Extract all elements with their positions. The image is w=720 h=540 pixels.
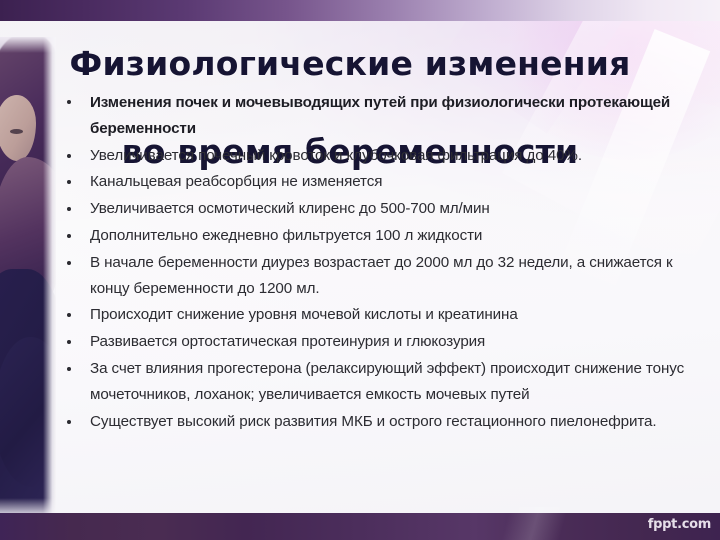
list-item: Существует высокий риск развития МКБ и о… [62, 409, 710, 435]
list-item: За счет влияния прогестерона (релаксирую… [62, 356, 710, 408]
list-item: Происходит снижение уровня мочевой кисло… [62, 302, 710, 328]
bottom-bar-sheen [499, 507, 568, 540]
list-item: Увеличивается осмотический клиренс до 50… [62, 196, 710, 222]
list-item: Канальцевая реабсорбция не изменяется [62, 169, 710, 195]
fppt-watermark: fppt.com [648, 517, 711, 532]
slide-body: Изменения почек и мочевыводящих путей пр… [62, 90, 710, 435]
slide-title-line-1: Физиологические изменения [0, 42, 700, 86]
list-item: Развивается ортостатическая протеинурия … [62, 329, 710, 355]
bottom-purple-bar: fppt.com [0, 513, 720, 540]
bullet-list: Изменения почек и мочевыводящих путей пр… [62, 90, 710, 434]
list-item: Изменения почек и мочевыводящих путей пр… [62, 90, 710, 142]
list-item: В начале беременности диурез возрастает … [62, 250, 710, 302]
presentation-slide: Физиологические изменения во время берем… [0, 0, 720, 540]
list-item: Увеличивается почечный кровоток и клубоч… [62, 143, 710, 169]
list-item: Дополнительно ежедневно фильтруется 100 … [62, 223, 710, 249]
